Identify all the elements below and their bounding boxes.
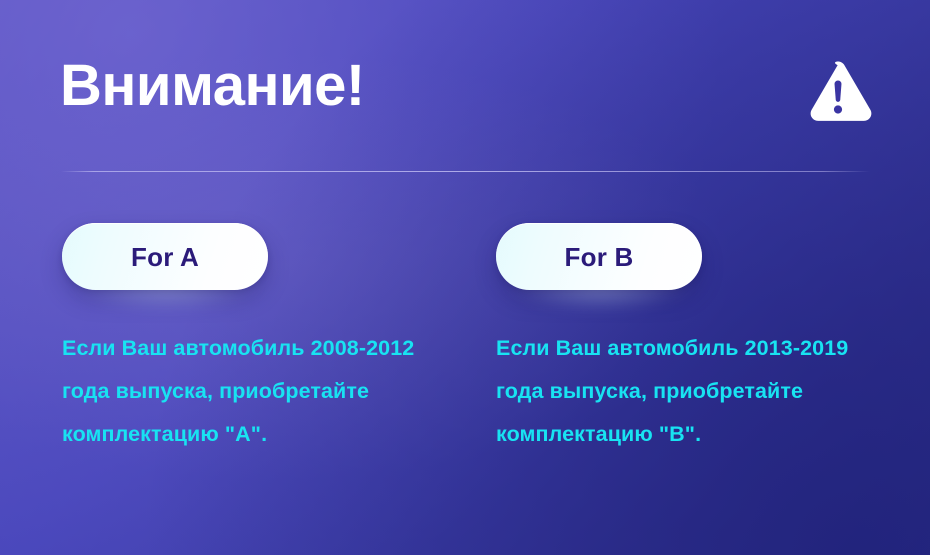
banner-content: Внимание! For A Если Ваш автомобиль 2008… bbox=[0, 0, 930, 555]
for-a-button[interactable]: For A bbox=[62, 223, 268, 290]
for-b-button-label: For B bbox=[565, 244, 634, 270]
page-title: Внимание! bbox=[60, 57, 365, 115]
attention-banner: Внимание! For A Если Ваш автомобиль 2008… bbox=[0, 0, 930, 555]
for-a-button-wrap: For A bbox=[62, 223, 268, 290]
header-divider bbox=[61, 171, 870, 172]
for-a-button-label: For A bbox=[131, 244, 199, 270]
option-a-description: Если Ваш автомобиль 2008-2012 года выпус… bbox=[62, 327, 452, 456]
for-b-button-wrap: For B bbox=[496, 223, 702, 290]
for-b-button[interactable]: For B bbox=[496, 223, 702, 290]
warning-triangle-icon bbox=[802, 58, 874, 126]
option-b-description: Если Ваш автомобиль 2013-2019 года выпус… bbox=[496, 327, 886, 456]
